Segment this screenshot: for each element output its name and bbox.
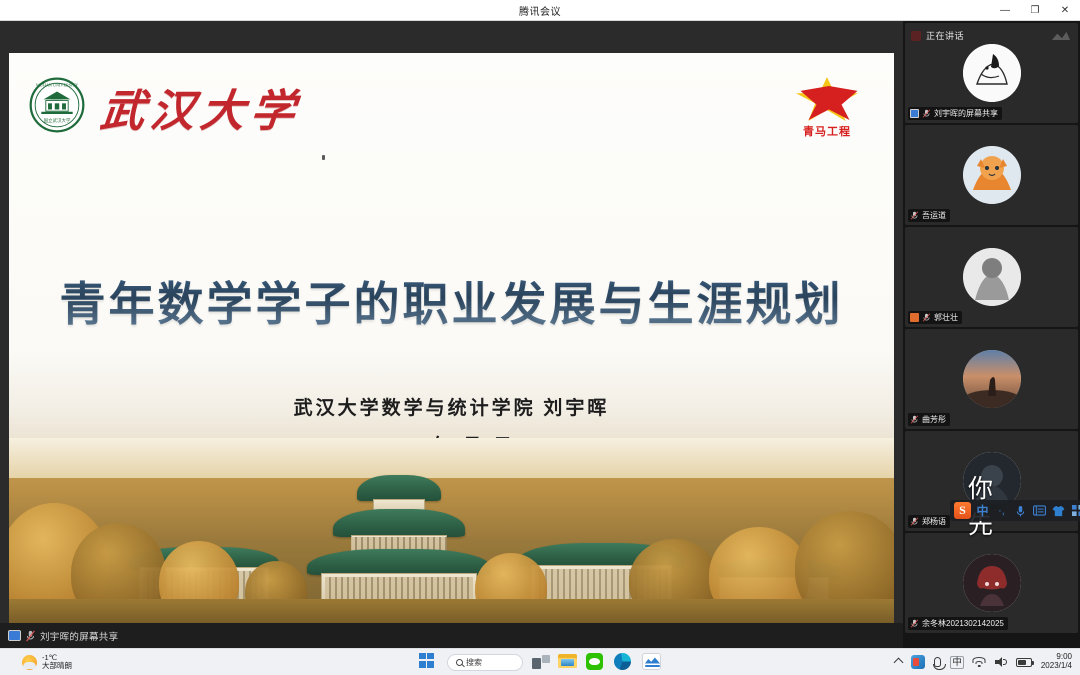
participant-name: 余冬林2021302142025 xyxy=(922,618,1004,629)
slide-title: 青年数学学子的职业发展与生涯规划 xyxy=(9,268,894,334)
screen-share-label: 刘宇晖的屏幕共享 xyxy=(40,629,118,643)
participant-name-bar: 刘宇晖的屏幕共享 xyxy=(908,107,1002,120)
clock[interactable]: 9:00 2023/1/4 xyxy=(1041,653,1072,671)
participant-name-bar: 郭壮壮 xyxy=(908,311,962,324)
campus-photo-band xyxy=(9,438,894,623)
avatar xyxy=(963,554,1021,612)
minimize-button[interactable]: — xyxy=(990,0,1020,21)
microphone-muted-icon xyxy=(910,211,919,220)
weather-condition: 大部晴朗 xyxy=(42,662,72,670)
university-name-calligraphy: 武汉大学 xyxy=(98,75,305,139)
wifi-icon[interactable] xyxy=(973,657,986,667)
participant-name-bar: 吾运道 xyxy=(908,209,950,222)
mouse-cursor-artifact xyxy=(322,155,325,160)
participant-tile[interactable]: 正在讲话 刘宇晖 xyxy=(905,23,1078,123)
system-tray[interactable]: 中 9:00 2023/1/4 xyxy=(895,653,1072,671)
sun-cloud-icon xyxy=(22,655,37,670)
speaking-indicator: 正在讲话 xyxy=(911,29,964,42)
toolbox-grid-icon[interactable] xyxy=(1070,503,1080,518)
microphone-icon[interactable] xyxy=(1013,503,1028,518)
participant-tile[interactable]: 曲芳彤 xyxy=(905,329,1078,429)
avatar xyxy=(963,248,1021,306)
maximize-button[interactable]: ❐ xyxy=(1020,0,1050,21)
avatar xyxy=(963,146,1021,204)
participant-tile[interactable]: 吾运道 xyxy=(905,125,1078,225)
microphone-muted-icon xyxy=(910,415,919,424)
network-signal-icon xyxy=(1051,30,1071,41)
speaking-icon xyxy=(911,31,921,41)
star-icon xyxy=(796,77,858,121)
search-icon xyxy=(456,659,463,666)
window-controls: — ❐ ✕ xyxy=(990,0,1080,21)
microphone-muted-icon xyxy=(922,313,931,322)
screen-share-icon xyxy=(910,109,919,118)
skin-shirt-icon[interactable] xyxy=(1051,503,1066,518)
qingma-program-logo: 青马工程 xyxy=(796,77,858,143)
file-explorer-icon[interactable] xyxy=(558,653,577,672)
volume-icon[interactable] xyxy=(995,657,1007,667)
close-button[interactable]: ✕ xyxy=(1050,0,1080,21)
participant-name: 郭壮壮 xyxy=(934,312,958,323)
ime-status-bar[interactable]: S 中 ·, xyxy=(950,500,1080,521)
participant-name: 曲芳彤 xyxy=(922,414,946,425)
start-icon[interactable] xyxy=(419,653,438,672)
search-placeholder: 搜索 xyxy=(466,657,482,668)
avatar-chip-icon xyxy=(910,313,919,322)
ime-mode-toggle[interactable]: 中 xyxy=(975,503,990,518)
window-title-bar: 腾讯会议 — ❐ ✕ xyxy=(0,0,1080,21)
speaking-label: 正在讲话 xyxy=(926,29,964,42)
svg-text:国立武汉大学: 国立武汉大学 xyxy=(44,117,71,124)
avatar xyxy=(963,350,1021,408)
blue-app-icon[interactable] xyxy=(642,653,661,672)
participant-name-bar: 余冬林2021302142025 xyxy=(908,617,1008,630)
participant-name: 刘宇晖的屏幕共享 xyxy=(934,108,998,119)
clock-date: 2023/1/4 xyxy=(1041,662,1072,671)
monitor-share-icon xyxy=(8,630,21,641)
taskbar-center-group[interactable]: 搜索 xyxy=(419,653,661,672)
participant-name-bar: 郑杨语 xyxy=(908,515,950,528)
participant-name: 郑杨语 xyxy=(922,516,946,527)
tray-app-icon[interactable] xyxy=(911,655,925,669)
windows-taskbar[interactable]: -1℃ 大部晴朗 搜索 中 9:00 2023/1/4 xyxy=(0,648,1080,675)
participant-tile[interactable]: 余冬林2021302142025 xyxy=(905,533,1078,633)
ime-indicator[interactable]: 中 xyxy=(950,656,964,669)
sogou-logo-icon[interactable]: S xyxy=(954,502,971,519)
microphone-muted-icon xyxy=(26,630,35,642)
battery-icon[interactable] xyxy=(1016,658,1032,667)
microphone-muted-icon xyxy=(910,517,919,526)
slide-presenter: 武汉大学数学与统计学院 刘宇晖 xyxy=(9,393,894,420)
microphone-muted-icon xyxy=(922,109,931,118)
presentation-slide: WUHAN UNIVERSITY 国立武汉大学 武汉大学 青马工程 青年数学学子… xyxy=(9,53,894,623)
punctuation-icon[interactable]: ·, xyxy=(994,503,1009,518)
participant-name: 吾运道 xyxy=(922,210,946,221)
microphone-muted-icon xyxy=(910,619,919,628)
meeting-window: WUHAN UNIVERSITY 国立武汉大学 武汉大学 青马工程 青年数学学子… xyxy=(0,21,1080,648)
search-input[interactable]: 搜索 xyxy=(447,654,523,671)
window-title: 腾讯会议 xyxy=(519,3,561,18)
shared-screen-stage[interactable]: WUHAN UNIVERSITY 国立武汉大学 武汉大学 青马工程 青年数学学子… xyxy=(0,21,903,648)
task-view-icon[interactable] xyxy=(532,655,549,669)
svg-text:WUHAN UNIVERSITY: WUHAN UNIVERSITY xyxy=(36,83,78,88)
edge-browser-icon[interactable] xyxy=(614,653,633,672)
microphone-icon[interactable] xyxy=(934,657,941,667)
participant-name-bar: 曲芳彤 xyxy=(908,413,950,426)
participants-rail[interactable]: 正在讲话 刘宇晖 xyxy=(903,21,1080,648)
chevron-up-icon[interactable] xyxy=(894,657,904,667)
participant-tile[interactable]: 郭壮壮 xyxy=(905,227,1078,327)
screen-share-bar: 刘宇晖的屏幕共享 xyxy=(0,623,903,648)
wechat-icon[interactable] xyxy=(586,653,605,672)
avatar xyxy=(963,44,1021,102)
weather-widget[interactable]: -1℃ 大部晴朗 xyxy=(0,654,72,670)
qingma-logo-label: 青马工程 xyxy=(796,123,858,139)
wuhan-university-seal-icon: WUHAN UNIVERSITY 国立武汉大学 xyxy=(29,77,85,133)
input-panel-icon[interactable] xyxy=(1032,503,1047,518)
